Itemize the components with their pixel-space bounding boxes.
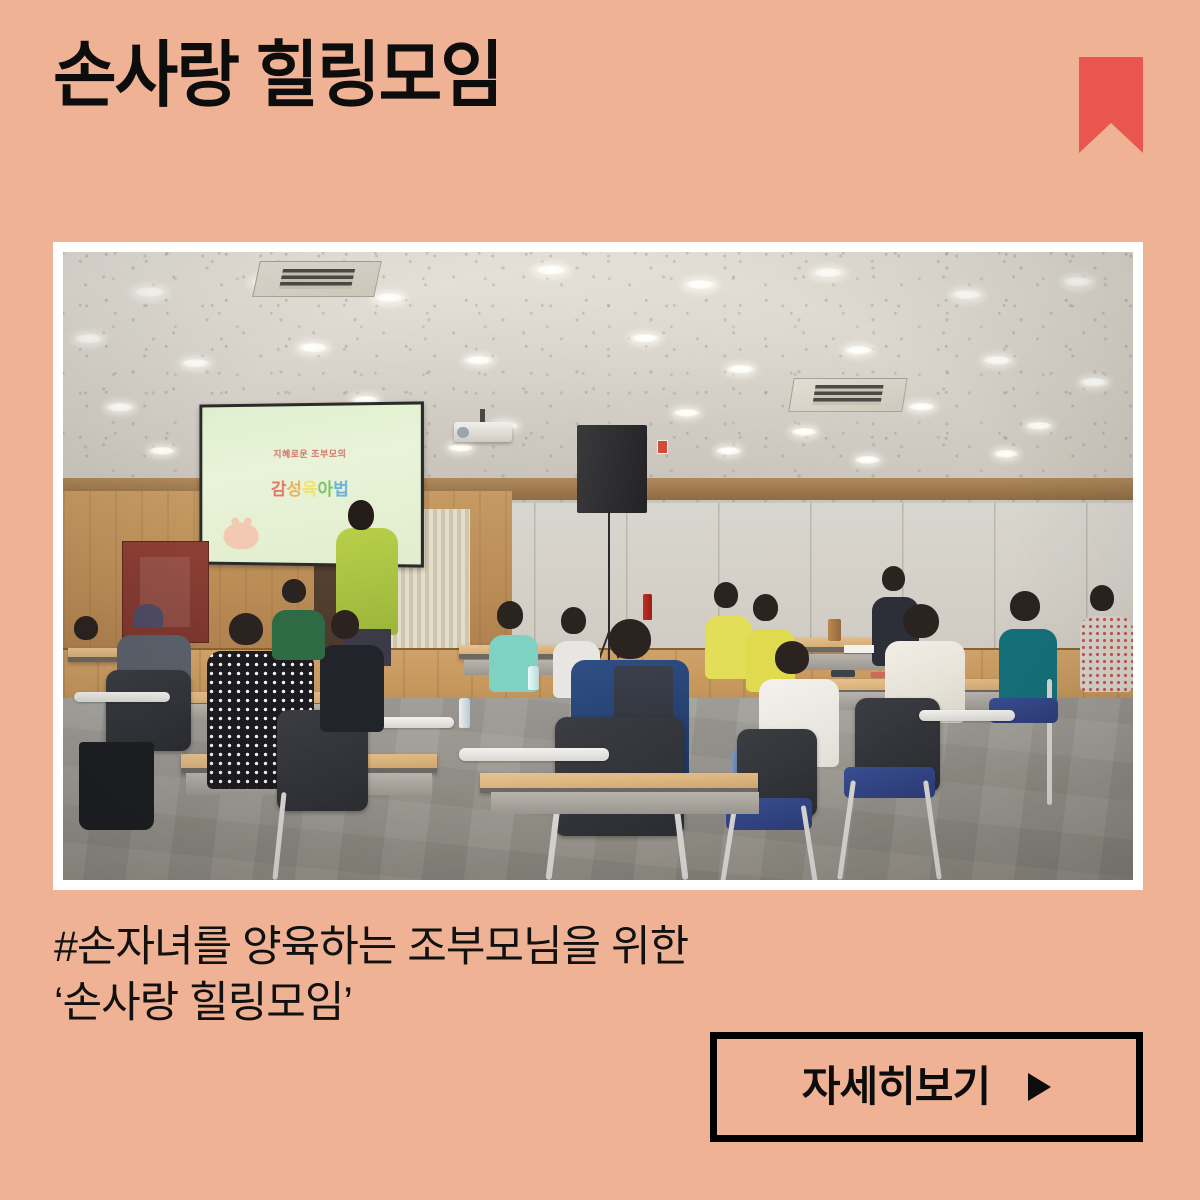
attendee-head bbox=[753, 594, 778, 621]
desk-skirt bbox=[491, 792, 759, 814]
ceiling-light bbox=[133, 287, 167, 298]
ceiling-light bbox=[448, 444, 473, 452]
pa-speaker bbox=[577, 425, 648, 513]
chair-back bbox=[106, 670, 192, 752]
paper-sheet bbox=[844, 645, 874, 653]
ceiling-light bbox=[855, 456, 880, 464]
attendee-head bbox=[1010, 591, 1040, 621]
ceiling-light bbox=[149, 447, 175, 455]
attendee-body bbox=[272, 610, 326, 660]
ceiling-projector bbox=[454, 422, 512, 442]
ceiling-light bbox=[630, 334, 660, 343]
screen-title: 감성육아법 bbox=[202, 475, 421, 500]
screen-title-char: 성 bbox=[286, 480, 302, 499]
ceiling-light bbox=[812, 268, 845, 278]
fire-extinguisher bbox=[643, 594, 652, 620]
seminar-photo: 지혜로운 조부모의 감성육아법 bbox=[63, 252, 1133, 880]
view-details-label: 자세히보기 bbox=[802, 1066, 990, 1108]
ceiling-light bbox=[464, 356, 493, 365]
attendee-head bbox=[903, 604, 939, 638]
tote-bag bbox=[79, 742, 154, 830]
presenter-head bbox=[348, 500, 374, 530]
ceiling-light bbox=[106, 403, 134, 412]
attendee-body bbox=[320, 645, 384, 733]
ceiling-light bbox=[534, 265, 568, 276]
ac-vent bbox=[788, 378, 907, 412]
attendee-head bbox=[714, 582, 738, 608]
ceiling-light bbox=[908, 403, 935, 411]
bookmark-icon bbox=[1079, 57, 1143, 153]
ceiling-light bbox=[994, 450, 1018, 458]
attendee-head bbox=[331, 610, 359, 639]
caption-line-2: ‘손사랑 힐링모임’ bbox=[54, 976, 954, 1032]
ceiling-light bbox=[1026, 422, 1052, 430]
water-bottle bbox=[528, 666, 539, 690]
page-title: 손사랑 힐링모임 bbox=[53, 40, 502, 112]
podium bbox=[122, 541, 210, 643]
attendee-head bbox=[561, 607, 586, 634]
attendee-head bbox=[74, 616, 98, 640]
ceiling-light bbox=[983, 356, 1012, 365]
photo-frame: 지혜로운 조부모의 감성육아법 bbox=[53, 242, 1143, 890]
screen-title-char: 아 bbox=[317, 480, 333, 499]
fire-alarm-sign bbox=[657, 440, 668, 454]
ceiling-light bbox=[951, 290, 983, 300]
screen-title-char: 감 bbox=[271, 480, 286, 499]
ceiling-light bbox=[1080, 378, 1108, 387]
desk bbox=[480, 773, 758, 793]
chair-tablet-arm bbox=[459, 748, 609, 761]
ac-vent bbox=[252, 261, 382, 297]
attendee-head-cap bbox=[133, 604, 163, 628]
ceiling-light bbox=[791, 428, 817, 436]
ceiling-light bbox=[673, 409, 700, 417]
view-details-button[interactable]: 자세히보기 bbox=[710, 1032, 1143, 1142]
caption-block: #손자녀를 양육하는 조부모님을 위한 ‘손사랑 힐링모임’ bbox=[54, 920, 954, 1032]
attendee-head bbox=[282, 579, 306, 603]
screen-title-char: 육 bbox=[302, 480, 318, 499]
play-triangle-icon bbox=[1028, 1073, 1051, 1101]
ceiling-light bbox=[373, 293, 405, 303]
ceiling-light bbox=[716, 447, 741, 455]
attendee-head bbox=[497, 601, 523, 629]
attendee-head bbox=[1090, 585, 1114, 611]
chair-seat bbox=[844, 767, 935, 798]
phone bbox=[831, 670, 855, 677]
caption-line-1: #손자녀를 양육하는 조부모님을 위한 bbox=[54, 920, 954, 976]
screen-title-char: 법 bbox=[333, 480, 349, 499]
attendee-head bbox=[882, 566, 905, 591]
attendee-head bbox=[229, 613, 263, 645]
screen-illustration bbox=[223, 523, 258, 550]
screen-subtitle: 지혜로운 조부모의 bbox=[202, 446, 421, 460]
ceiling-light bbox=[74, 334, 104, 344]
ceiling-light bbox=[181, 359, 210, 368]
attendee-head bbox=[775, 641, 809, 674]
attendee-head bbox=[609, 619, 651, 659]
chair-tablet-arm bbox=[919, 710, 1015, 721]
tumbler bbox=[828, 619, 841, 641]
page-header: 손사랑 힐링모임 bbox=[0, 0, 1200, 200]
attendee-body bbox=[1080, 616, 1134, 691]
water-bottle bbox=[459, 698, 470, 728]
chair-tablet-arm bbox=[74, 692, 170, 702]
